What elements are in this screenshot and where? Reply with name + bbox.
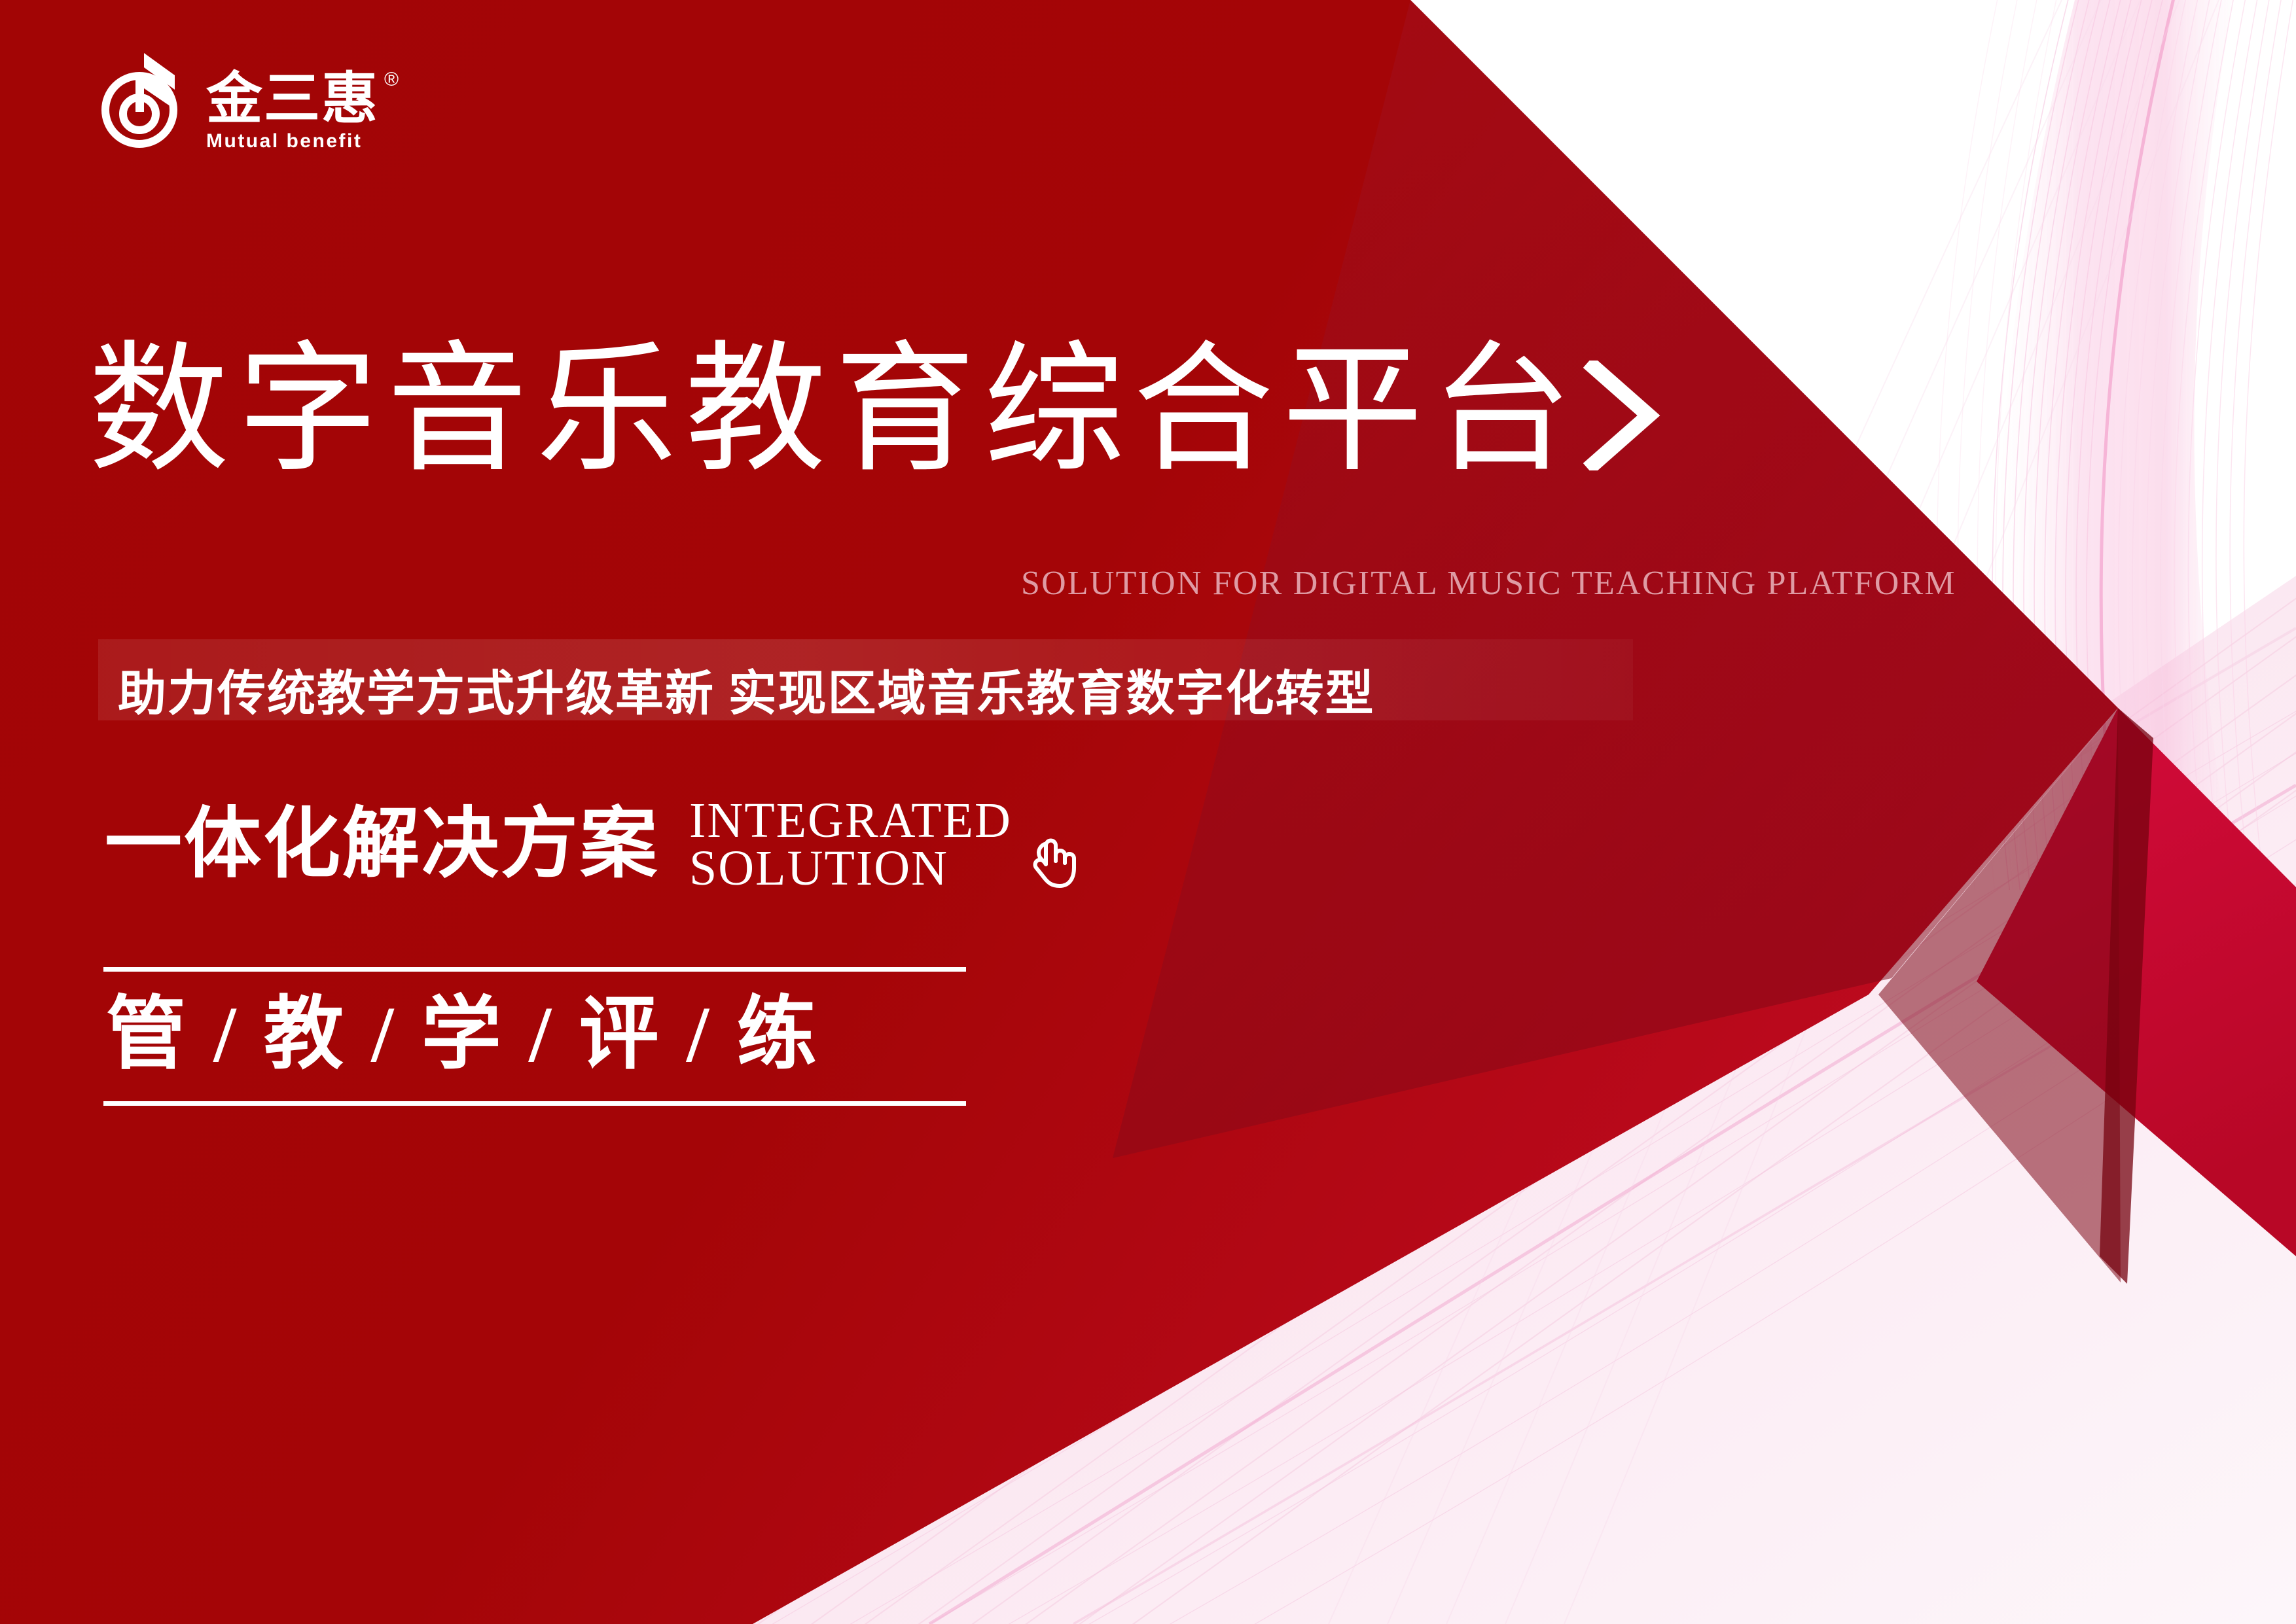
- music-note-circle-logo-icon: [101, 49, 192, 149]
- pillars-rule-top: [103, 967, 966, 972]
- solution-label-en: INTEGRATED SOLUTION: [689, 797, 1012, 892]
- headline-group: 数字音乐教育综合平台: [88, 340, 1660, 481]
- brand-name-cn: 金三惠: [206, 73, 379, 126]
- solution-group: 一体化解决方案 INTEGRATED SOLUTION: [105, 797, 1079, 892]
- poster-canvas: 金三惠 ® Mutual benefit 数字音乐教育综合平台 SOLUTION…: [0, 0, 2296, 1624]
- solution-label-cn: 一体化解决方案: [105, 806, 659, 883]
- headline-kicker-en: SOLUTION FOR DIGITAL MUSIC TEACHING PLAT…: [1021, 564, 1956, 603]
- page-title: 数字音乐教育综合平台: [88, 340, 1581, 481]
- brand-logo[interactable]: 金三惠 ® Mutual benefit: [101, 49, 399, 152]
- pillars-text: 管 / 教 / 学 / 评 / 练: [103, 972, 966, 1101]
- solution-en-line1: INTEGRATED: [689, 793, 1012, 848]
- pillars-rule-bottom: [103, 1101, 966, 1106]
- brand-wordmark: 金三惠 ® Mutual benefit: [206, 49, 399, 152]
- brand-tagline-en: Mutual benefit: [206, 130, 362, 152]
- solution-en-line2: SOLUTION: [689, 841, 948, 896]
- fold-edge-sliver: [2100, 708, 2153, 1284]
- chevron-right-icon: [1583, 361, 1660, 470]
- crimson-accent: [1977, 708, 2296, 1256]
- tagline-text: 助力传统教学方式升级革新 实现区域音乐教育数字化转型: [118, 654, 1375, 724]
- pillars-group: 管 / 教 / 学 / 评 / 练: [103, 967, 966, 1106]
- pointing-hand-cursor-icon[interactable]: [1030, 835, 1079, 889]
- fold-shadow-lower: [1878, 708, 2121, 1282]
- registered-mark-icon: ®: [384, 70, 399, 90]
